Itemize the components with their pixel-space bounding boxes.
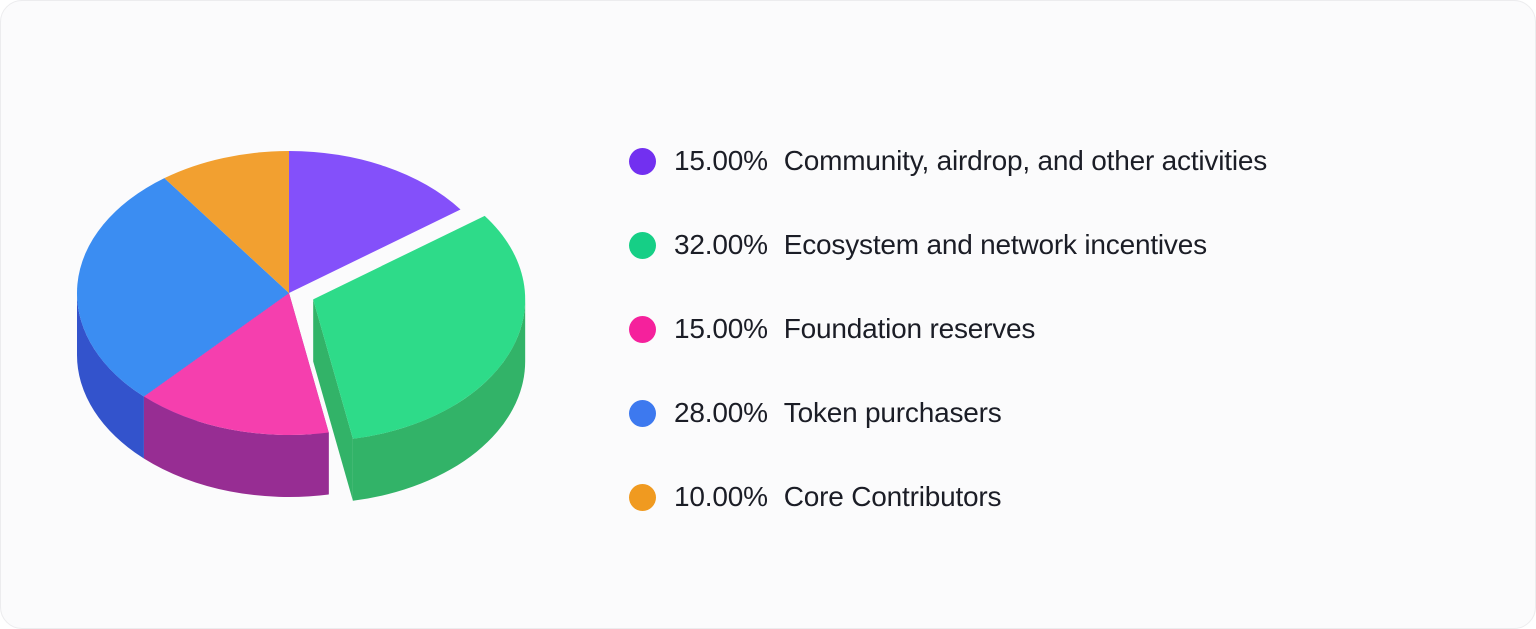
pie-chart-3d xyxy=(41,101,581,521)
legend-item-foundation[interactable]: 15.00% Foundation reserves xyxy=(629,287,1489,371)
legend-dot-icon xyxy=(629,316,656,343)
legend-item-label: Token purchasers xyxy=(784,397,1002,429)
legend-dot-icon xyxy=(629,400,656,427)
legend-item-percent: 28.00% xyxy=(674,397,768,429)
chart-legend: 15.00% Community, airdrop, and other act… xyxy=(629,119,1489,539)
legend-item-percent: 10.00% xyxy=(674,481,768,513)
legend-item-label: Foundation reserves xyxy=(784,313,1035,345)
legend-item-community[interactable]: 15.00% Community, airdrop, and other act… xyxy=(629,119,1489,203)
pie-chart-card: 15.00% Community, airdrop, and other act… xyxy=(0,0,1536,629)
legend-dot-icon xyxy=(629,484,656,511)
legend-item-core-contributors[interactable]: 10.00% Core Contributors xyxy=(629,455,1489,539)
legend-item-label: Community, airdrop, and other activities xyxy=(784,145,1267,177)
legend-item-ecosystem[interactable]: 32.00% Ecosystem and network incentives xyxy=(629,203,1489,287)
legend-item-label: Core Contributors xyxy=(784,481,1002,513)
legend-item-percent: 15.00% xyxy=(674,145,768,177)
pie-chart-svg xyxy=(41,101,581,521)
legend-item-label: Ecosystem and network incentives xyxy=(784,229,1207,261)
legend-item-percent: 15.00% xyxy=(674,313,768,345)
legend-item-percent: 32.00% xyxy=(674,229,768,261)
legend-dot-icon xyxy=(629,232,656,259)
legend-item-token-purchasers[interactable]: 28.00% Token purchasers xyxy=(629,371,1489,455)
legend-dot-icon xyxy=(629,148,656,175)
